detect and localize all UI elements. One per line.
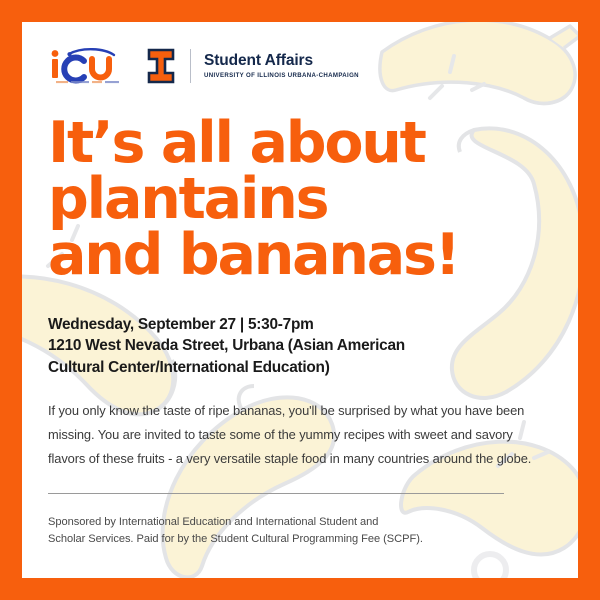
sponsor-note: Sponsored by International Education and…	[48, 514, 552, 548]
headline-line-2: plantains	[48, 172, 552, 228]
page-title: It’s all about plantains and bananas!	[48, 116, 552, 284]
student-affairs-lockup-text: Student Affairs UNIVERSITY OF ILLINOIS U…	[204, 53, 359, 79]
illinois-block-i-logo	[146, 47, 176, 85]
logo-divider	[190, 49, 191, 83]
flyer-header: Student Affairs UNIVERSITY OF ILLINOIS U…	[48, 22, 552, 92]
illinois-lockup: Student Affairs UNIVERSITY OF ILLINOIS U…	[146, 47, 359, 85]
sponsor-line-2: Scholar Services. Paid for by the Studen…	[48, 531, 552, 548]
section-divider	[48, 493, 504, 494]
icu-logo	[48, 46, 128, 86]
event-details: Wednesday, September 27 | 5:30-7pm 1210 …	[48, 314, 552, 380]
headline-line-1: It’s all about	[48, 116, 552, 172]
event-datetime: Wednesday, September 27 | 5:30-7pm	[48, 314, 552, 336]
event-description: If you only know the taste of ripe banan…	[48, 399, 548, 471]
event-location-line-2: Cultural Center/International Education)	[48, 357, 552, 379]
event-flyer: Student Affairs UNIVERSITY OF ILLINOIS U…	[0, 0, 600, 600]
flyer-content: Student Affairs UNIVERSITY OF ILLINOIS U…	[22, 22, 578, 578]
headline-line-3: and bananas!	[48, 228, 552, 284]
unit-subtitle: UNIVERSITY OF ILLINOIS URBANA-CHAMPAIGN	[204, 72, 359, 79]
event-location-line-1: 1210 West Nevada Street, Urbana (Asian A…	[48, 335, 552, 357]
sponsor-line-1: Sponsored by International Education and…	[48, 514, 552, 531]
unit-title: Student Affairs	[204, 53, 359, 69]
flyer-canvas: Student Affairs UNIVERSITY OF ILLINOIS U…	[22, 22, 578, 578]
